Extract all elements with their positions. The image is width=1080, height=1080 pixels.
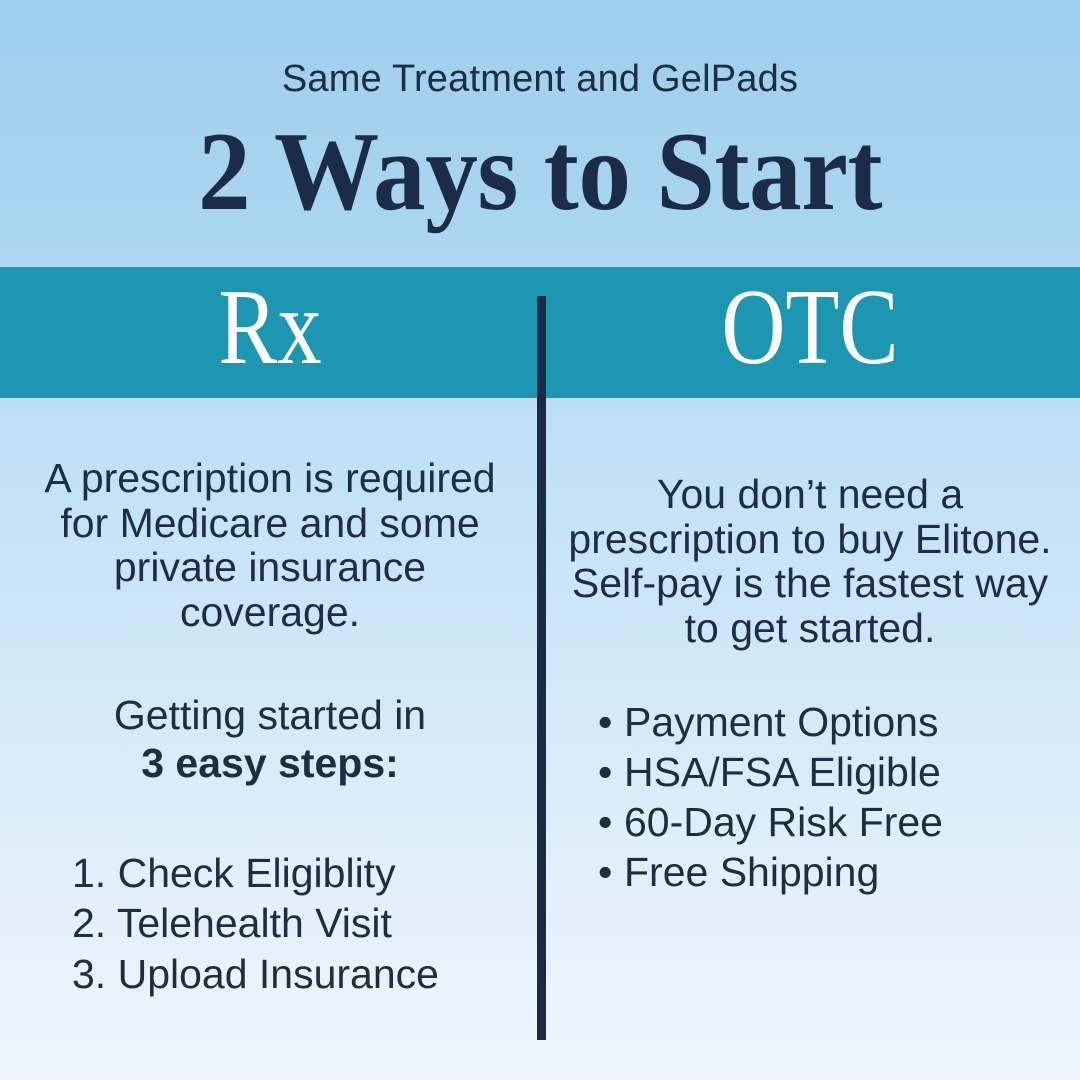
rx-steps-heading-normal: Getting started in — [114, 692, 426, 738]
step-label: 3. Upload Insurance — [72, 951, 439, 997]
list-item: • Free Shipping — [598, 847, 1060, 897]
rx-steps-heading-bold: 3 easy steps: — [141, 740, 399, 786]
benefit-label: Payment Options — [624, 697, 939, 747]
column-otc: You don’t need a prescription to buy Eli… — [560, 398, 1060, 897]
bullet-dot-icon: • — [598, 847, 624, 897]
step-label: 2. Telehealth Visit — [72, 900, 392, 946]
benefit-label: 60-Day Risk Free — [624, 797, 943, 847]
bullet-dot-icon: • — [598, 797, 624, 847]
page-title: 2 Ways to Start — [32, 110, 1047, 235]
list-item: • Payment Options — [598, 697, 1060, 747]
header: Same Treatment and GelPads 2 Ways to Sta… — [0, 0, 1080, 267]
benefit-label: HSA/FSA Eligible — [624, 747, 941, 797]
bullet-dot-icon: • — [598, 747, 624, 797]
otc-description: You don’t need a prescription to buy Eli… — [560, 398, 1060, 651]
otc-benefits-list: • Payment Options • HSA/FSA Eligible • 6… — [560, 651, 1060, 897]
banner-label-rx: Rx — [49, 259, 492, 397]
list-item: 3. Upload Insurance — [72, 949, 520, 1000]
benefit-label: Free Shipping — [624, 847, 879, 897]
eyebrow-text: Same Treatment and GelPads — [0, 57, 1080, 103]
list-item: • HSA/FSA Eligible — [598, 747, 1060, 797]
step-label: 1. Check Eligiblity — [72, 850, 396, 896]
list-item: 2. Telehealth Visit — [72, 898, 520, 949]
comparison-columns: A prescription is required for Medicare … — [0, 398, 1080, 1080]
rx-description: A prescription is required for Medicare … — [20, 398, 520, 635]
rx-steps-list: 1. Check Eligiblity 2. Telehealth Visit … — [20, 788, 520, 1000]
banner-label-otc: OTC — [589, 259, 1032, 397]
bullet-dot-icon: • — [598, 697, 624, 747]
column-rx: A prescription is required for Medicare … — [20, 398, 520, 1000]
list-item: • 60-Day Risk Free — [598, 797, 1060, 847]
rx-steps-heading: Getting started in 3 easy steps: — [20, 635, 520, 788]
list-item: 1. Check Eligiblity — [72, 848, 520, 899]
